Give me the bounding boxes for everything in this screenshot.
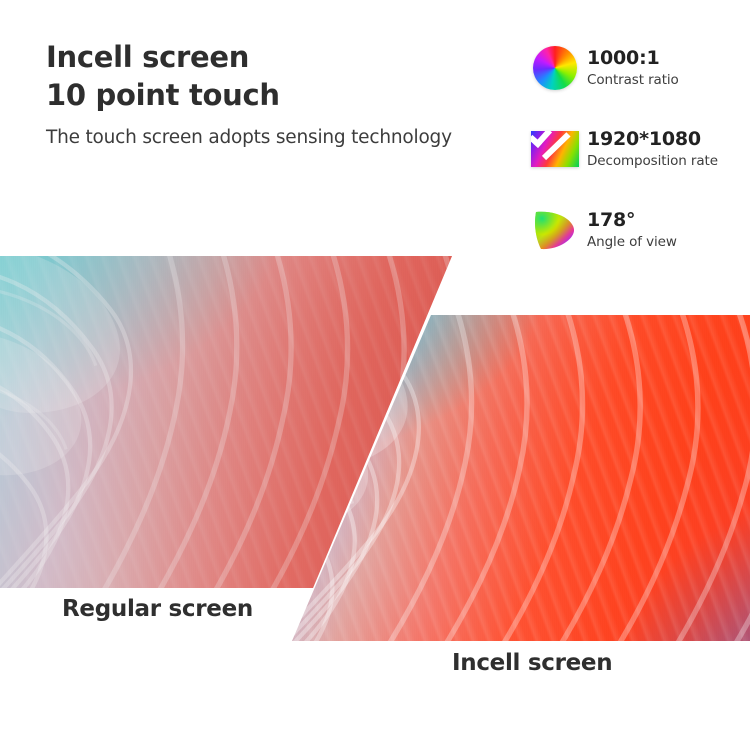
spec-label-contrast-ratio: Contrast ratio — [587, 71, 679, 89]
headline-line-2: 10 point touch — [46, 76, 526, 114]
color-wheel-icon — [529, 42, 581, 94]
spec-value-angle-of-view: 178° — [587, 209, 677, 232]
viewing-angle-wedge-shape — [532, 207, 578, 253]
spec-list: 1000:1 Contrast ratio 1920*1080 Decompos… — [529, 40, 750, 283]
spec-value-decomposition-rate: 1920*1080 — [587, 128, 718, 151]
spec-item-angle-of-view: 178° Angle of view — [529, 202, 750, 258]
incell-screen-caption: Incell screen — [452, 650, 612, 676]
spec-item-decomposition-rate: 1920*1080 Decomposition rate — [529, 121, 750, 177]
spec-value-contrast-ratio: 1000:1 — [587, 47, 679, 70]
headline-subtitle: The touch screen adopts sensing technolo… — [46, 125, 526, 151]
spec-text-contrast-ratio: 1000:1 Contrast ratio — [581, 47, 679, 89]
resolution-check-icon — [529, 123, 581, 175]
spec-label-decomposition-rate: Decomposition rate — [587, 152, 718, 170]
regular-screen-caption: Regular screen — [62, 596, 253, 622]
spec-item-contrast-ratio: 1000:1 Contrast ratio — [529, 40, 750, 96]
headline-block: Incell screen 10 point touch The touch s… — [46, 38, 526, 151]
spec-text-angle-of-view: 178° Angle of view — [581, 209, 677, 251]
spec-label-angle-of-view: Angle of view — [587, 233, 677, 251]
headline-line-1: Incell screen — [46, 38, 526, 76]
spec-text-decomposition-rate: 1920*1080 Decomposition rate — [581, 128, 718, 170]
viewing-angle-icon — [529, 204, 581, 256]
